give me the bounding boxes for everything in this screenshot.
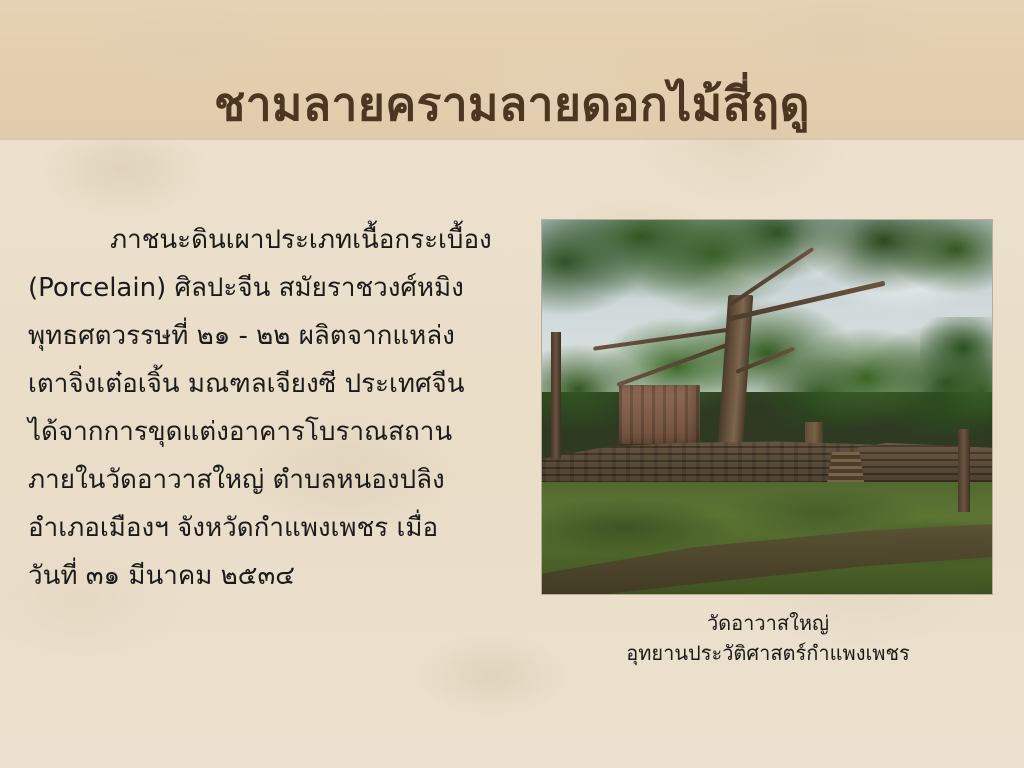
presentation-slide: ชามลายครามลายดอกไม้สี่ฤดู ภาชนะดินเผาประ… xyxy=(0,0,1024,768)
body-line: พุทธศตวรรษที่ ๒๑ - ๒๒ ผลิตจากแหล่ง xyxy=(28,312,518,360)
photo-caption: วัดอาวาสใหญ่ อุทยานประวัติศาสตร์กำแพงเพช… xyxy=(542,608,994,668)
body-line: ได้จากการขุดแต่งอาคารโบราณสถาน xyxy=(28,408,518,456)
body-line: ภายในวัดอาวาสใหญ่ ตำบลหนองปลิง xyxy=(28,456,518,504)
page-title: ชามลายครามลายดอกไม้สี่ฤดู xyxy=(0,75,1024,133)
body-paragraph: ภาชนะดินเผาประเภทเนื้อกระเบื้อง (Porcela… xyxy=(28,216,518,600)
caption-line: วัดอาวาสใหญ่ xyxy=(542,608,994,638)
caption-line: อุทยานประวัติศาสตร์กำแพงเพชร xyxy=(542,638,994,668)
header-divider xyxy=(0,138,1024,140)
body-line: วันที่ ๓๑ มีนาคม ๒๕๓๔ xyxy=(28,552,518,600)
body-line: เตาจิ่งเต๋อเจิ้น มณฑลเจียงซี ประเทศจีน xyxy=(28,360,518,408)
photo-vignette xyxy=(542,220,992,594)
body-line: อำเภอเมืองฯ จังหวัดกำแพงเพชร เมื่อ xyxy=(28,504,518,552)
body-line: ภาชนะดินเผาประเภทเนื้อกระเบื้อง xyxy=(28,216,518,264)
photo-scene xyxy=(542,220,992,594)
body-line: (Porcelain) ศิลปะจีน สมัยราชวงศ์หมิง xyxy=(28,264,518,312)
site-photograph xyxy=(542,220,992,594)
